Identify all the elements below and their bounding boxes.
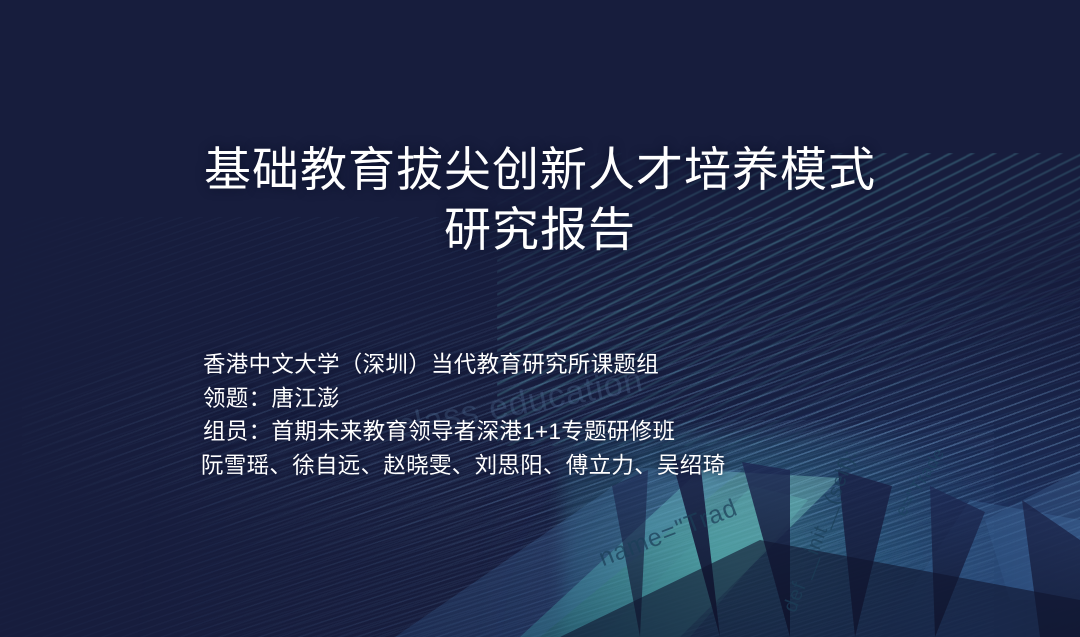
slide-content: 基础教育拔尖创新人才培养模式 研究报告 香港中文大学（深圳）当代教育研究所课题组… xyxy=(0,0,1080,637)
byline-members-names: 阮雪瑶、徐自远、赵晓雯、刘思阳、傅立力、吴绍琦 xyxy=(201,449,725,483)
slide-byline: 香港中文大学（深圳）当代教育研究所课题组 领题：唐江澎 组员：首期未来教育领导者… xyxy=(203,348,725,482)
byline-organization: 香港中文大学（深圳）当代教育研究所课题组 xyxy=(203,348,725,382)
title-line-1: 基础教育拔尖创新人才培养模式 xyxy=(0,140,1080,200)
slide-title: 基础教育拔尖创新人才培养模式 研究报告 xyxy=(0,140,1080,260)
byline-members-label: 组员：首期未来教育领导者深港1+1专题研修班 xyxy=(203,415,725,449)
title-slide: name="Trad def __init__(self): e="Trade … xyxy=(0,0,1080,637)
title-line-2: 研究报告 xyxy=(0,200,1080,260)
byline-lead: 领题：唐江澎 xyxy=(203,382,725,416)
